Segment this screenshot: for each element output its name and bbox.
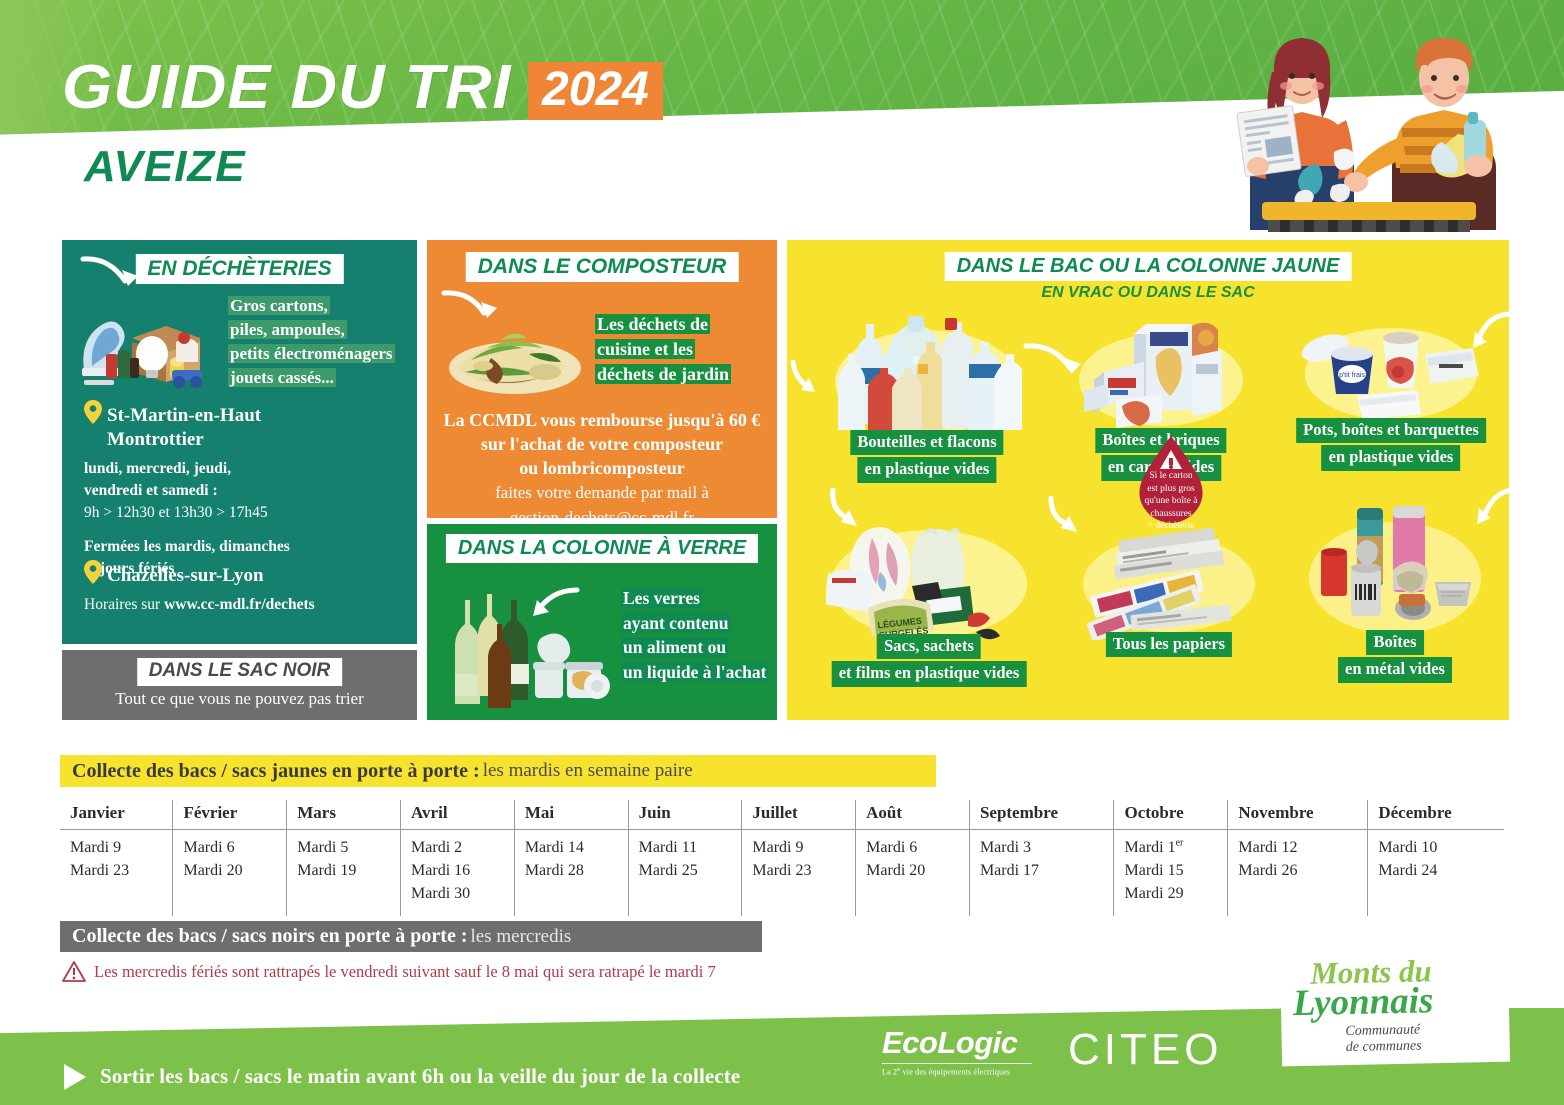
calendar-header-row: Janvier Février Mars Avril Mai Juin Juil… — [60, 800, 1504, 830]
tile-sacs-films-tags: Sacs, sachets et films en plastique vide… — [832, 634, 1027, 689]
decheteries-heading: EN DÉCHÈTERIES — [135, 254, 343, 284]
month-header-juillet: Juillet — [742, 800, 856, 830]
location-hours: lundi, mercredi, jeudi, vendredi et same… — [84, 458, 404, 524]
composteur-body: La CCMDL vous rembourse jusqu'à 60 € sur… — [437, 408, 767, 530]
footer-notice: Sortir les bacs / sacs le matin avant 6h… — [100, 1064, 740, 1089]
date-item: Mardi 9 — [752, 836, 855, 859]
tag-line-0: Sacs, sachets — [877, 634, 981, 659]
days-line2: vendredi et samedi : — [84, 482, 218, 499]
map-pin-icon — [84, 400, 102, 424]
month-header-fevrier: Février — [173, 800, 287, 830]
days-line1: lundi, mercredi, jeudi, — [84, 460, 231, 477]
location-chazelles: Chazelles-sur-Lyon Horaires sur www.cc-m… — [84, 560, 404, 616]
tile-pots-barquettes: p'tit frais Pots, boîtes et barquettes e… — [1277, 306, 1505, 476]
tag-line-0: Boîtes — [1366, 630, 1423, 655]
arrow-icon — [1463, 486, 1519, 528]
date-item: Mardi 20 — [183, 859, 286, 882]
tile-pots-barquettes-tags: Pots, boîtes et barquettes en plastique … — [1296, 418, 1486, 473]
tile-bouteilles: Bouteilles et flacons en plastique vides — [813, 312, 1041, 476]
arrow-icon — [80, 254, 144, 296]
decheteries-items-list: Gros cartons, piles, ampoules, petits él… — [230, 294, 410, 391]
mdl-logo-line3a: Communauté — [1345, 1022, 1420, 1039]
guide-du-tri-page: GUIDE DU TRI 2024 AVEIZE — [0, 0, 1564, 1105]
month-header-septembre: Septembre — [969, 800, 1114, 830]
bac-jaune-subheading: EN VRAC OU DANS LE SAC — [787, 284, 1509, 302]
ecologic-logo-tagline: La 2e vie des équipements électriques — [882, 1063, 1032, 1077]
collection-calendar-table: Janvier Février Mars Avril Mai Juin Juil… — [60, 800, 1504, 916]
location-name: Chazelles-sur-Lyon — [84, 560, 404, 588]
month-dates-novembre: Mardi 12 Mardi 26 — [1228, 830, 1368, 916]
mdl-logo-line2: Lyonnais — [1292, 981, 1503, 1022]
ecologic-logo-name: EcoLogic — [882, 1027, 1032, 1058]
ecologic-logo: EcoLogic La 2e vie des équipements élect… — [882, 1027, 1032, 1077]
date-item: Mardi 23 — [752, 859, 855, 882]
warning-badge-text: Si le carton est plus gros qu'une boîte … — [1128, 470, 1214, 533]
verre-heading: DANS LA COLONNE À VERRE — [446, 534, 758, 563]
decheteries-items-photo — [76, 292, 206, 392]
location-name-line2: Montrottier — [107, 428, 404, 452]
monts-du-lyonnais-logo: Monts du Lyonnais Communauté de communes — [1280, 950, 1510, 1067]
month-dates-septembre: Mardi 3 Mardi 17 — [969, 830, 1114, 916]
composteur-tag-line2: déchets de jardin — [597, 364, 729, 384]
plastic-bags-films-photo: LÉGUMES SURGELÉS — [826, 516, 1032, 646]
decheteries-item-2: petits électroménagers — [230, 344, 393, 363]
location-name-line1: St-Martin-en-Haut — [107, 405, 261, 426]
cardboard-boxes-photo — [1076, 316, 1246, 430]
collecte-jaune-subtitle: les mardis en semaine paire — [483, 760, 693, 782]
date-item: Mardi 2 — [411, 836, 514, 859]
date-item: Mardi 28 — [525, 859, 628, 882]
two-people-sorting-illustration — [1206, 16, 1536, 232]
arrow-icon — [1023, 342, 1083, 382]
date-item: Mardi 17 — [980, 859, 1114, 882]
decheteries-item-0: Gros cartons, — [230, 296, 328, 315]
warn-line-4: = déchèterie — [1148, 521, 1195, 531]
hours-url[interactable]: www.cc-mdl.fr/dechets — [164, 596, 315, 613]
date-item: Mardi 29 — [1124, 882, 1227, 905]
month-dates-avril: Mardi 2 Mardi 16 Mardi 30 — [401, 830, 515, 916]
month-dates-mai: Mardi 14 Mardi 28 — [514, 830, 628, 916]
town-badge: AVEIZE — [62, 138, 268, 198]
calendar-dates-row: Mardi 9 Mardi 23 Mardi 6 Mardi 20 Mardi … — [60, 830, 1504, 916]
date-item: Mardi 6 — [183, 836, 286, 859]
newspapers-magazines-photo — [1079, 522, 1259, 640]
panel-colonne-verre: DANS LA COLONNE À VERRE — [427, 524, 777, 720]
mdl-logo-line3b: de communes — [1346, 1038, 1422, 1055]
hours-label: Horaires sur — [84, 596, 164, 613]
date-item: Mardi 24 — [1378, 859, 1504, 882]
date-item: Mardi 10 — [1378, 836, 1504, 859]
month-dates-juin: Mardi 11 Mardi 25 — [628, 830, 742, 916]
plastic-pots-trays-photo: p'tit frais — [1301, 314, 1481, 426]
bac-jaune-heading: DANS LE BAC OU LA COLONNE JAUNE — [945, 252, 1352, 281]
tag-line-1: en plastique vides — [858, 457, 997, 482]
map-pin-icon — [84, 560, 102, 584]
month-dates-octobre: Mardi 1er Mardi 15 Mardi 29 — [1114, 830, 1228, 916]
arrow-icon — [829, 488, 889, 530]
month-header-mai: Mai — [514, 800, 628, 830]
panel-decheteries: EN DÉCHÈTERIES Gros carton — [62, 240, 417, 644]
tag-line-0: Tous les papiers — [1106, 632, 1232, 657]
warn-line-0: Si le carton — [1149, 471, 1192, 481]
date-item: Mardi 15 — [1124, 859, 1227, 882]
verre-tag-line0: Les verres — [623, 588, 700, 608]
tile-papiers-tags: Tous les papiers — [1106, 632, 1232, 659]
month-header-octobre: Octobre — [1114, 800, 1228, 830]
closed-line1: Fermées les mardis, dimanches — [84, 538, 290, 555]
tag-line-1: et films en plastique vides — [832, 661, 1027, 686]
tag-line-0: Bouteilles et flacons — [850, 430, 1003, 455]
collecte-noire-subtitle: les mercredis — [471, 926, 572, 948]
composteur-tag-line1: cuisine et les — [597, 339, 693, 359]
date-item: Mardi 6 — [866, 836, 969, 859]
metal-cans-photo — [1305, 506, 1485, 646]
tile-papiers: Tous les papiers — [1059, 522, 1279, 692]
month-header-novembre: Novembre — [1228, 800, 1368, 830]
date-item: Mardi 23 — [70, 859, 172, 882]
tag-line-1: en plastique vides — [1322, 445, 1461, 470]
composteur-body-line2: ou lombricomposteur — [437, 456, 767, 480]
date-item: Mardi 16 — [411, 859, 514, 882]
date-item: Mardi 19 — [297, 859, 400, 882]
month-header-mars: Mars — [287, 800, 401, 830]
panel-composteur: DANS LE COMPOSTEUR Les déchets de cuisin… — [427, 240, 777, 518]
month-dates-decembre: Mardi 10 Mardi 24 — [1368, 830, 1504, 916]
collecte-jaune-bar: Collecte des bacs / sacs jaunes en porte… — [60, 755, 936, 787]
tag-line-1: en métal vides — [1338, 657, 1452, 682]
verre-tag-line2: un aliment ou — [623, 637, 726, 657]
panel-sac-noir: DANS LE SAC NOIR Tout ce que vous ne pou… — [62, 650, 417, 720]
verre-tag-line1: ayant contenu — [623, 613, 729, 633]
date-item: Mardi 20 — [866, 859, 969, 882]
page-title: GUIDE DU TRI — [62, 52, 512, 123]
composteur-tag-line0: Les déchets de — [597, 314, 708, 334]
tag-line-0: Pots, boîtes et barquettes — [1296, 418, 1486, 443]
plastic-bottles-photo — [832, 312, 1022, 434]
tile-sacs-films: LÉGUMES SURGELÉS Sacs, sachets et films … — [809, 516, 1049, 692]
month-header-aout: Août — [856, 800, 970, 830]
collecte-jaune-title: Collecte des bacs / sacs jaunes en porte… — [72, 760, 480, 783]
sac-noir-text: Tout ce que vous ne pouvez pas trier — [62, 689, 417, 709]
location-hours-link-row: Horaires sur www.cc-mdl.fr/dechets — [84, 594, 404, 616]
decheteries-item-1: piles, ampoules, — [230, 320, 345, 339]
date-item: Mardi 30 — [411, 882, 514, 905]
mdl-logo-inner: Monts du Lyonnais Communauté de communes — [1292, 954, 1504, 1057]
composteur-tag: Les déchets de cuisine et les déchets de… — [597, 312, 765, 386]
sac-noir-heading: DANS LE SAC NOIR — [137, 658, 343, 686]
month-header-avril: Avril — [401, 800, 515, 830]
warn-line-1: est plus gros — [1147, 484, 1195, 494]
mdl-logo-line3: Communauté de communes — [1345, 1021, 1504, 1056]
compost-waste-photo — [437, 312, 592, 398]
location-saint-martin: St-Martin-en-Haut Montrottier lundi, mer… — [84, 400, 404, 580]
composteur-body-line0: La CCMDL vous rembourse jusqu'à 60 € — [437, 408, 767, 432]
date-item: Mardi 1er — [1124, 836, 1227, 859]
svg-text:p'tit frais: p'tit frais — [1339, 372, 1365, 379]
composteur-body-line1: sur l'achat de votre composteur — [437, 432, 767, 456]
warn-line-2: qu'une boîte à — [1145, 496, 1198, 506]
hours-range: 9h > 12h30 et 13h30 > 17h45 — [84, 504, 268, 521]
location-name: St-Martin-en-Haut — [84, 400, 404, 428]
tile-bouteilles-tags: Bouteilles et flacons en plastique vides — [850, 430, 1003, 485]
month-dates-mars: Mardi 5 Mardi 19 — [287, 830, 401, 916]
decheteries-item-3: jouets cassés... — [230, 368, 334, 387]
holiday-note-text: Les mercredis fériés sont rattrapés le v… — [94, 962, 716, 982]
month-dates-aout: Mardi 6 Mardi 20 — [856, 830, 970, 916]
date-item: Mardi 9 — [70, 836, 172, 859]
warning-triangle-icon — [62, 960, 86, 984]
date-item: Mardi 11 — [639, 836, 742, 859]
date-item: Mardi 3 — [980, 836, 1114, 859]
tile-metal-tags: Boîtes en métal vides — [1338, 630, 1452, 685]
date-item: Mardi 25 — [639, 859, 742, 882]
collecte-noire-title: Collecte des bacs / sacs noirs en porte … — [72, 925, 468, 948]
composteur-heading: DANS LE COMPOSTEUR — [466, 252, 739, 282]
arrow-icon — [1459, 310, 1515, 352]
play-triangle-icon — [62, 1063, 88, 1091]
month-header-decembre: Décembre — [1368, 800, 1504, 830]
arrow-icon — [523, 586, 581, 620]
collecte-noire-bar: Collecte des bacs / sacs noirs en porte … — [60, 921, 762, 952]
month-header-janvier: Janvier — [60, 800, 173, 830]
arrow-icon — [1047, 496, 1101, 538]
year-badge: 2024 — [528, 62, 663, 120]
arrow-icon — [789, 360, 837, 394]
warn-line-3: chaussures — [1150, 509, 1191, 519]
date-item: Mardi 26 — [1238, 859, 1367, 882]
month-header-juin: Juin — [628, 800, 742, 830]
composteur-mail-label: faites votre demande par mail à — [437, 482, 767, 505]
month-dates-juillet: Mardi 9 Mardi 23 — [742, 830, 856, 916]
verre-tag: Les verres ayant contenu un aliment ou u… — [623, 586, 773, 684]
tile-metal: Boîtes en métal vides — [1289, 506, 1501, 692]
date-item: Mardi 14 — [525, 836, 628, 859]
holiday-note-row: Les mercredis fériés sont rattrapés le v… — [62, 960, 716, 984]
month-dates-janvier: Mardi 9 Mardi 23 — [60, 830, 173, 916]
date-item: Mardi 12 — [1238, 836, 1367, 859]
verre-tag-line3: un liquide à l'achat — [623, 662, 766, 682]
citeo-logo: CITEO — [1068, 1028, 1222, 1072]
month-dates-fevrier: Mardi 6 Mardi 20 — [173, 830, 287, 916]
location-name-line1: Chazelles-sur-Lyon — [107, 565, 264, 586]
date-item: Mardi 5 — [297, 836, 400, 859]
